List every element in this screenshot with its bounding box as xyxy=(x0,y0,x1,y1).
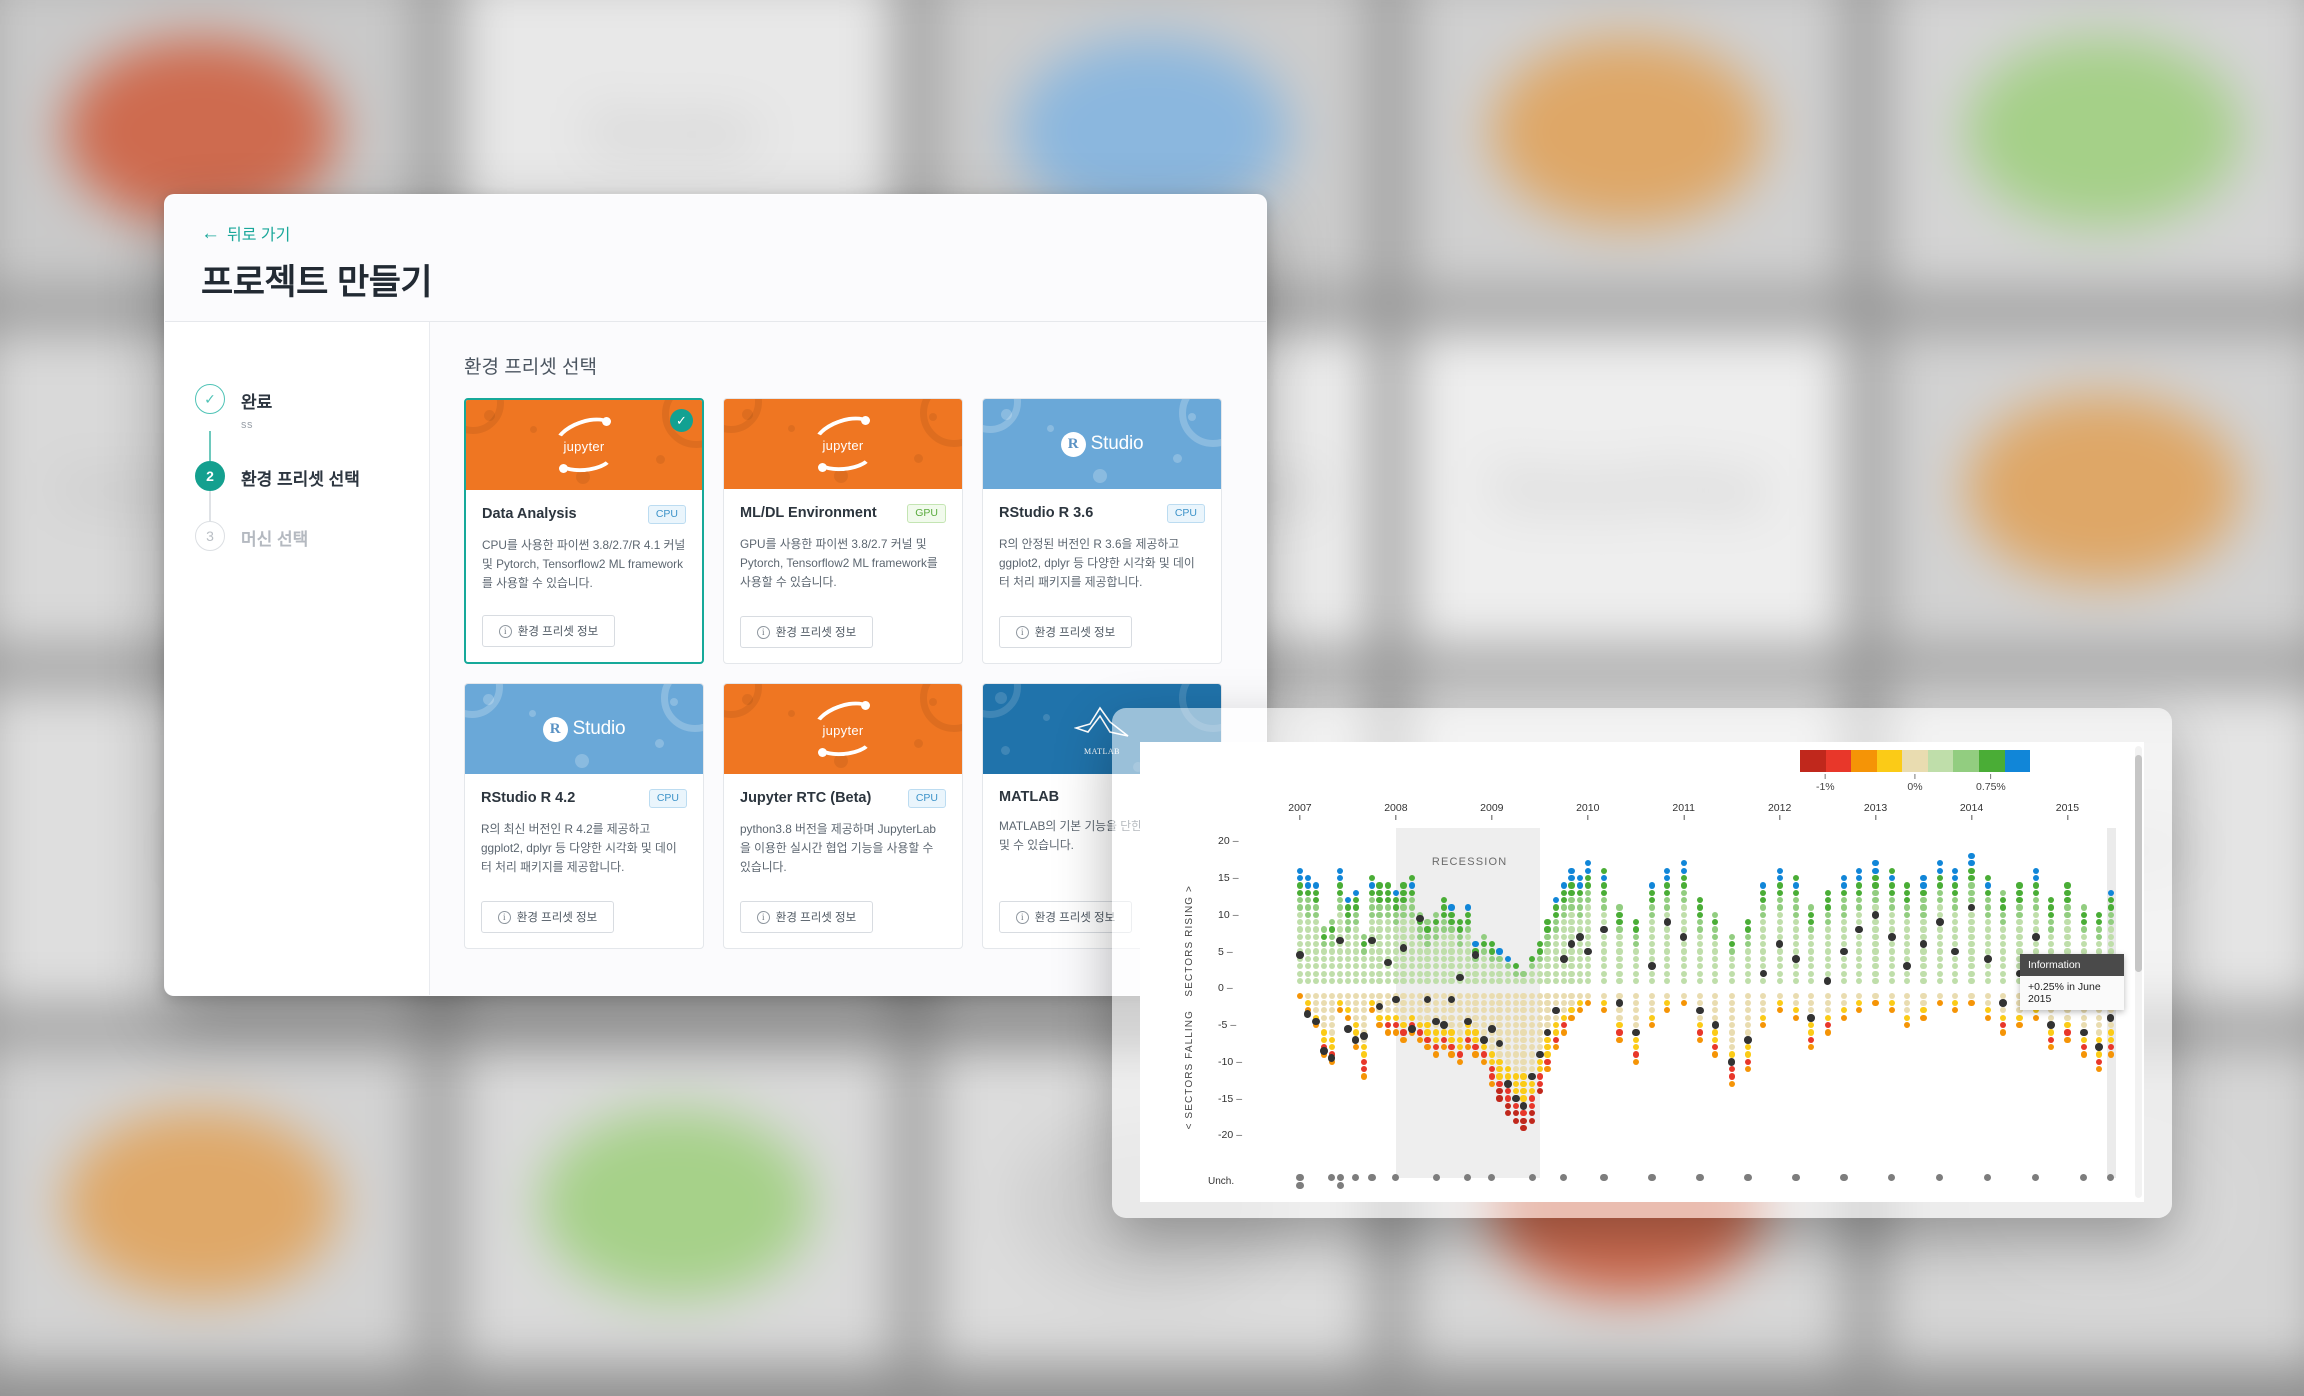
preset-card-2[interactable]: RStudioRStudio R 3.6CPUR의 안정된 버전인 R 3.6을… xyxy=(982,398,1222,664)
data-dot xyxy=(2108,1022,2114,1028)
jupyter-wordmark: jupyter xyxy=(806,723,880,738)
data-dot xyxy=(1856,882,1862,888)
data-dot xyxy=(1297,912,1303,918)
data-dot xyxy=(1448,912,1454,918)
chart-canvas: -1%0%0.75% RECESSION20072008200920102011… xyxy=(1140,742,2144,1202)
unchanged-dot xyxy=(1696,1174,1703,1181)
data-dot xyxy=(1856,1000,1862,1006)
data-dot xyxy=(2064,890,2070,896)
index-marker-dot xyxy=(1616,999,1624,1007)
data-dot xyxy=(1400,882,1406,888)
data-dot xyxy=(1681,860,1687,866)
data-dot xyxy=(1952,941,1958,947)
card-banner: RStudio xyxy=(465,684,703,774)
unchanged-dot xyxy=(1840,1174,1847,1181)
data-dot xyxy=(1400,963,1406,969)
data-dot xyxy=(1400,890,1406,896)
data-dot xyxy=(1472,1015,1478,1021)
data-dot xyxy=(1633,956,1639,962)
data-dot xyxy=(1489,956,1495,962)
data-dot xyxy=(2033,897,2039,903)
data-dot xyxy=(1968,993,1974,999)
data-dot xyxy=(1585,993,1591,999)
vertical-scrollbar[interactable] xyxy=(2135,746,2142,1198)
data-dot xyxy=(1329,934,1335,940)
preset-card-1[interactable]: jupyterML/DL EnvironmentGPUGPU를 사용한 파이썬 … xyxy=(723,398,963,664)
data-dot xyxy=(1729,963,1735,969)
data-dot xyxy=(1808,978,1814,984)
data-dot xyxy=(1616,1007,1622,1013)
data-dot xyxy=(1553,971,1559,977)
data-dot xyxy=(1697,1029,1703,1035)
data-dot xyxy=(1465,956,1471,962)
preset-info-button[interactable]: i환경 프리셋 정보 xyxy=(740,616,873,648)
data-dot xyxy=(1681,904,1687,910)
data-dot xyxy=(1968,912,1974,918)
data-dot xyxy=(1760,941,1766,947)
data-dot xyxy=(1385,1022,1391,1028)
data-dot xyxy=(2064,926,2070,932)
data-dot xyxy=(1337,897,1343,903)
data-dot xyxy=(1393,1015,1399,1021)
data-dot xyxy=(1329,948,1335,954)
data-dot xyxy=(1385,948,1391,954)
data-dot xyxy=(1952,875,1958,881)
data-dot xyxy=(1585,956,1591,962)
data-dot xyxy=(1424,1029,1430,1035)
data-dot xyxy=(1529,971,1535,977)
data-dot xyxy=(1664,993,1670,999)
data-dot xyxy=(1361,971,1367,977)
data-dot xyxy=(1496,1088,1502,1094)
data-dot xyxy=(1297,875,1303,881)
data-dot xyxy=(1424,978,1430,984)
data-dot xyxy=(1856,948,1862,954)
data-dot xyxy=(1825,971,1831,977)
data-dot xyxy=(1297,890,1303,896)
data-dot xyxy=(1537,1044,1543,1050)
data-dot xyxy=(1664,875,1670,881)
data-dot xyxy=(1985,897,1991,903)
data-dot xyxy=(1793,941,1799,947)
index-marker-dot xyxy=(1903,962,1911,970)
index-marker-dot xyxy=(1352,1036,1360,1044)
data-dot xyxy=(1537,956,1543,962)
preset-info-button[interactable]: i환경 프리셋 정보 xyxy=(740,901,873,933)
data-dot xyxy=(1520,1000,1526,1006)
data-dot xyxy=(1568,868,1574,874)
data-dot xyxy=(1577,912,1583,918)
data-dot xyxy=(1321,1000,1327,1006)
data-dot xyxy=(1313,904,1319,910)
data-dot xyxy=(1968,875,1974,881)
data-dot xyxy=(2096,934,2102,940)
preset-info-button[interactable]: i환경 프리셋 정보 xyxy=(999,616,1132,648)
data-dot xyxy=(1825,934,1831,940)
data-dot xyxy=(1760,904,1766,910)
data-dot xyxy=(1825,919,1831,925)
data-dot xyxy=(1649,956,1655,962)
data-dot xyxy=(1417,993,1423,999)
data-dot xyxy=(1825,941,1831,947)
scrollbar-thumb[interactable] xyxy=(2135,755,2142,972)
data-dot xyxy=(1376,912,1382,918)
decorative-bubble xyxy=(914,454,923,463)
data-dot xyxy=(1760,1015,1766,1021)
data-dot xyxy=(1457,926,1463,932)
data-dot xyxy=(1760,963,1766,969)
data-dot xyxy=(1345,1015,1351,1021)
data-dot xyxy=(1793,963,1799,969)
data-dot xyxy=(1376,904,1382,910)
data-dot xyxy=(1585,890,1591,896)
data-dot xyxy=(1681,868,1687,874)
data-dot xyxy=(1457,1015,1463,1021)
data-dot xyxy=(1305,971,1311,977)
unchanged-dot xyxy=(1464,1174,1471,1181)
data-dot xyxy=(1345,904,1351,910)
data-dot xyxy=(1465,912,1471,918)
data-dot xyxy=(1329,1029,1335,1035)
y-axis-tick: 10 xyxy=(1218,909,1243,921)
data-dot xyxy=(1385,1000,1391,1006)
jupyter-wordmark: jupyter xyxy=(547,439,621,454)
data-dot xyxy=(1968,978,1974,984)
data-dot xyxy=(1760,882,1766,888)
data-dot xyxy=(1457,993,1463,999)
data-dot xyxy=(1568,1000,1574,1006)
data-dot xyxy=(1985,890,1991,896)
data-dot xyxy=(1313,926,1319,932)
data-dot xyxy=(1297,993,1303,999)
data-dot xyxy=(1417,1037,1423,1043)
data-dot xyxy=(1305,956,1311,962)
index-marker-dot xyxy=(1792,955,1800,963)
data-dot xyxy=(1968,956,1974,962)
data-dot xyxy=(1361,1059,1367,1065)
data-dot xyxy=(1633,1007,1639,1013)
data-dot xyxy=(1793,890,1799,896)
data-dot xyxy=(1361,934,1367,940)
info-icon: i xyxy=(757,911,770,924)
data-dot xyxy=(1841,1007,1847,1013)
data-dot xyxy=(1808,926,1814,932)
step-item-2[interactable]: 2환경 프리셋 선택 xyxy=(195,461,429,491)
data-dot xyxy=(1568,971,1574,977)
data-dot xyxy=(1376,971,1382,977)
data-dot xyxy=(1745,963,1751,969)
card-description: python3.8 버전을 제공하며 JupyterLab을 이용한 실시간 협… xyxy=(740,820,946,878)
data-dot xyxy=(1345,1007,1351,1013)
data-dot xyxy=(1376,897,1382,903)
data-dot xyxy=(1337,993,1343,999)
legend-tick-label: 0.75% xyxy=(1976,774,2006,793)
data-dot xyxy=(1520,1022,1526,1028)
data-dot xyxy=(1433,926,1439,932)
data-dot xyxy=(1729,1037,1735,1043)
data-dot xyxy=(1433,948,1439,954)
index-marker-dot xyxy=(1464,1018,1472,1026)
data-dot xyxy=(1520,1081,1526,1087)
data-dot xyxy=(1345,926,1351,932)
data-dot xyxy=(1577,956,1583,962)
step-item-3[interactable]: 3머신 선택 xyxy=(195,521,429,551)
card-body: RStudio R 3.6CPUR의 안정된 버전인 R 3.6을 제공하고 g… xyxy=(983,489,1221,663)
preset-card-3[interactable]: RStudioRStudio R 4.2CPUR의 최신 버전인 R 4.2를 … xyxy=(464,683,704,949)
data-dot xyxy=(1793,1000,1799,1006)
data-dot xyxy=(1952,897,1958,903)
data-dot xyxy=(2000,1007,2006,1013)
data-dot xyxy=(1745,1044,1751,1050)
data-dot xyxy=(1745,956,1751,962)
data-dot xyxy=(1745,948,1751,954)
preset-card-4[interactable]: jupyterJupyter RTC (Beta)CPUpython3.8 버전… xyxy=(723,683,963,949)
data-dot xyxy=(2016,904,2022,910)
data-dot xyxy=(1537,1029,1543,1035)
data-dot xyxy=(1553,978,1559,984)
data-dot xyxy=(1329,1007,1335,1013)
index-marker-dot xyxy=(1951,948,1959,956)
decorative-ring xyxy=(466,400,504,434)
data-dot xyxy=(1529,1015,1535,1021)
data-dot xyxy=(1664,956,1670,962)
data-dot xyxy=(1729,1073,1735,1079)
data-dot xyxy=(1369,971,1375,977)
data-dot xyxy=(1496,1022,1502,1028)
data-dot xyxy=(2096,912,2102,918)
preset-card-0[interactable]: jupyter✓Data AnalysisCPUCPU를 사용한 파이썬 3.8… xyxy=(464,398,704,664)
data-dot xyxy=(1664,904,1670,910)
data-dot xyxy=(1889,926,1895,932)
data-dot xyxy=(1985,993,1991,999)
data-dot xyxy=(1561,971,1567,977)
data-dot xyxy=(1353,912,1359,918)
data-dot xyxy=(1808,1000,1814,1006)
background-tile xyxy=(1882,0,2304,294)
data-dot xyxy=(1481,1029,1487,1035)
data-dot xyxy=(1985,1015,1991,1021)
data-dot xyxy=(1297,897,1303,903)
data-dot xyxy=(1353,941,1359,947)
data-dot xyxy=(2033,926,2039,932)
data-dot xyxy=(1385,890,1391,896)
background-tile-logo xyxy=(1966,395,2240,583)
data-dot xyxy=(1664,890,1670,896)
back-link[interactable]: ← 뒤로 가기 xyxy=(201,221,290,245)
data-dot xyxy=(1553,1000,1559,1006)
data-dot xyxy=(1577,978,1583,984)
data-dot xyxy=(1369,890,1375,896)
data-dot xyxy=(1337,882,1343,888)
unchanged-dot xyxy=(1433,1174,1440,1181)
data-dot xyxy=(1872,971,1878,977)
data-dot xyxy=(1400,1000,1406,1006)
data-dot xyxy=(1681,926,1687,932)
data-dot xyxy=(2108,1044,2114,1050)
data-dot xyxy=(1568,1015,1574,1021)
data-dot xyxy=(1920,934,1926,940)
data-dot xyxy=(1424,1037,1430,1043)
data-dot xyxy=(1649,978,1655,984)
back-link-label: 뒤로 가기 xyxy=(227,221,290,245)
data-dot xyxy=(1649,882,1655,888)
data-dot xyxy=(1937,868,1943,874)
data-dot xyxy=(1513,1044,1519,1050)
rstudio-logo: RStudio xyxy=(1061,432,1144,457)
data-dot xyxy=(1481,1015,1487,1021)
data-dot xyxy=(1712,1037,1718,1043)
data-dot xyxy=(1577,926,1583,932)
data-dot xyxy=(1424,948,1430,954)
data-dot xyxy=(1465,1029,1471,1035)
data-dot xyxy=(1777,993,1783,999)
data-dot xyxy=(1889,993,1895,999)
data-dot xyxy=(1745,978,1751,984)
data-dot xyxy=(1400,1022,1406,1028)
data-dot xyxy=(1385,941,1391,947)
data-dot xyxy=(1441,978,1447,984)
data-dot xyxy=(1505,1029,1511,1035)
data-dot xyxy=(1872,934,1878,940)
data-dot xyxy=(1568,978,1574,984)
data-dot xyxy=(1616,1022,1622,1028)
data-dot xyxy=(1712,941,1718,947)
data-dot xyxy=(1841,1000,1847,1006)
preset-info-button[interactable]: i환경 프리셋 정보 xyxy=(481,901,614,933)
data-dot xyxy=(1448,963,1454,969)
data-dot xyxy=(1681,912,1687,918)
data-dot xyxy=(1505,1015,1511,1021)
data-dot xyxy=(1920,897,1926,903)
rstudio-wordmark: Studio xyxy=(1091,433,1144,455)
decorative-bubble xyxy=(914,739,923,748)
steps-rail: ✓완료ss2환경 프리셋 선택3머신 선택 xyxy=(165,322,430,996)
data-dot xyxy=(1400,956,1406,962)
data-dot xyxy=(1353,978,1359,984)
data-dot xyxy=(1681,978,1687,984)
data-dot xyxy=(1553,941,1559,947)
data-dot xyxy=(1441,948,1447,954)
data-dot xyxy=(1345,948,1351,954)
data-dot xyxy=(2033,890,2039,896)
info-icon: i xyxy=(757,626,770,639)
data-dot xyxy=(1376,1015,1382,1021)
data-dot xyxy=(1616,919,1622,925)
data-dot xyxy=(1920,912,1926,918)
data-dot xyxy=(1417,934,1423,940)
legend-swatch-3 xyxy=(1877,750,1903,772)
data-dot xyxy=(1841,919,1847,925)
data-dot xyxy=(1889,948,1895,954)
info-icon: i xyxy=(1016,911,1029,924)
data-dot xyxy=(1385,926,1391,932)
data-dot xyxy=(1313,978,1319,984)
data-dot xyxy=(1777,875,1783,881)
data-dot xyxy=(1513,1103,1519,1109)
tooltip-body: +0.25% in June 2015 xyxy=(2020,976,2124,1010)
data-dot xyxy=(1544,971,1550,977)
data-dot xyxy=(1568,963,1574,969)
data-dot xyxy=(1393,956,1399,962)
unchanged-dot xyxy=(1600,1174,1607,1181)
unchanged-dot xyxy=(2107,1174,2114,1181)
data-dot xyxy=(1561,978,1567,984)
data-dot xyxy=(2064,1029,2070,1035)
data-dot xyxy=(1601,963,1607,969)
data-dot xyxy=(1353,948,1359,954)
data-dot xyxy=(2096,1029,2102,1035)
data-dot xyxy=(1496,1051,1502,1057)
data-dot xyxy=(1369,904,1375,910)
index-marker-dot xyxy=(1840,948,1848,956)
data-dot xyxy=(1297,978,1303,984)
step-label: 머신 선택 xyxy=(241,525,308,550)
data-dot xyxy=(1400,897,1406,903)
data-dot xyxy=(1400,993,1406,999)
data-dot xyxy=(1329,978,1335,984)
background-tile xyxy=(456,1043,898,1367)
data-dot xyxy=(1904,919,1910,925)
data-dot xyxy=(2000,941,2006,947)
data-dot xyxy=(1568,904,1574,910)
data-dot xyxy=(1513,1051,1519,1057)
data-dot xyxy=(1337,1000,1343,1006)
y-axis-tick: -20 xyxy=(1218,1129,1246,1141)
data-dot xyxy=(1353,897,1359,903)
data-dot xyxy=(1305,1000,1311,1006)
preset-info-button[interactable]: i환경 프리셋 정보 xyxy=(482,615,615,647)
data-dot xyxy=(1305,882,1311,888)
project-window-body: ✓완료ss2환경 프리셋 선택3머신 선택 환경 프리셋 선택 jupyter✓… xyxy=(165,321,1266,996)
data-dot xyxy=(1904,971,1910,977)
data-dot xyxy=(1448,1044,1454,1050)
data-dot xyxy=(1793,948,1799,954)
data-dot xyxy=(1441,912,1447,918)
data-dot xyxy=(1297,882,1303,888)
data-dot xyxy=(1376,934,1382,940)
data-dot xyxy=(1441,934,1447,940)
decorative-bubble xyxy=(788,710,795,717)
data-dot xyxy=(1345,897,1351,903)
data-dot xyxy=(1841,912,1847,918)
step-number-badge: 2 xyxy=(195,461,225,491)
step-item-1[interactable]: ✓완료ss xyxy=(195,384,429,431)
data-dot xyxy=(1400,934,1406,940)
data-dot xyxy=(1664,934,1670,940)
step-connector xyxy=(209,431,211,461)
data-dot xyxy=(1489,978,1495,984)
card-title: ML/DL Environment xyxy=(740,505,877,521)
data-dot xyxy=(1841,934,1847,940)
data-dot xyxy=(1952,1007,1958,1013)
data-dot xyxy=(1537,1059,1543,1065)
section-heading: 환경 프리셋 선택 xyxy=(464,352,1266,379)
card-title-row: Jupyter RTC (Beta)CPU xyxy=(740,789,946,808)
data-dot xyxy=(2016,919,2022,925)
data-dot xyxy=(1920,882,1926,888)
data-dot xyxy=(1577,904,1583,910)
decorative-bubble xyxy=(575,754,589,768)
data-dot xyxy=(1920,919,1926,925)
data-dot xyxy=(1601,912,1607,918)
data-dot xyxy=(2064,912,2070,918)
data-dot xyxy=(2081,926,2087,932)
data-dot xyxy=(1313,971,1319,977)
data-dot xyxy=(1712,912,1718,918)
data-dot xyxy=(1585,971,1591,977)
data-dot xyxy=(2016,882,2022,888)
data-dot xyxy=(1808,1037,1814,1043)
